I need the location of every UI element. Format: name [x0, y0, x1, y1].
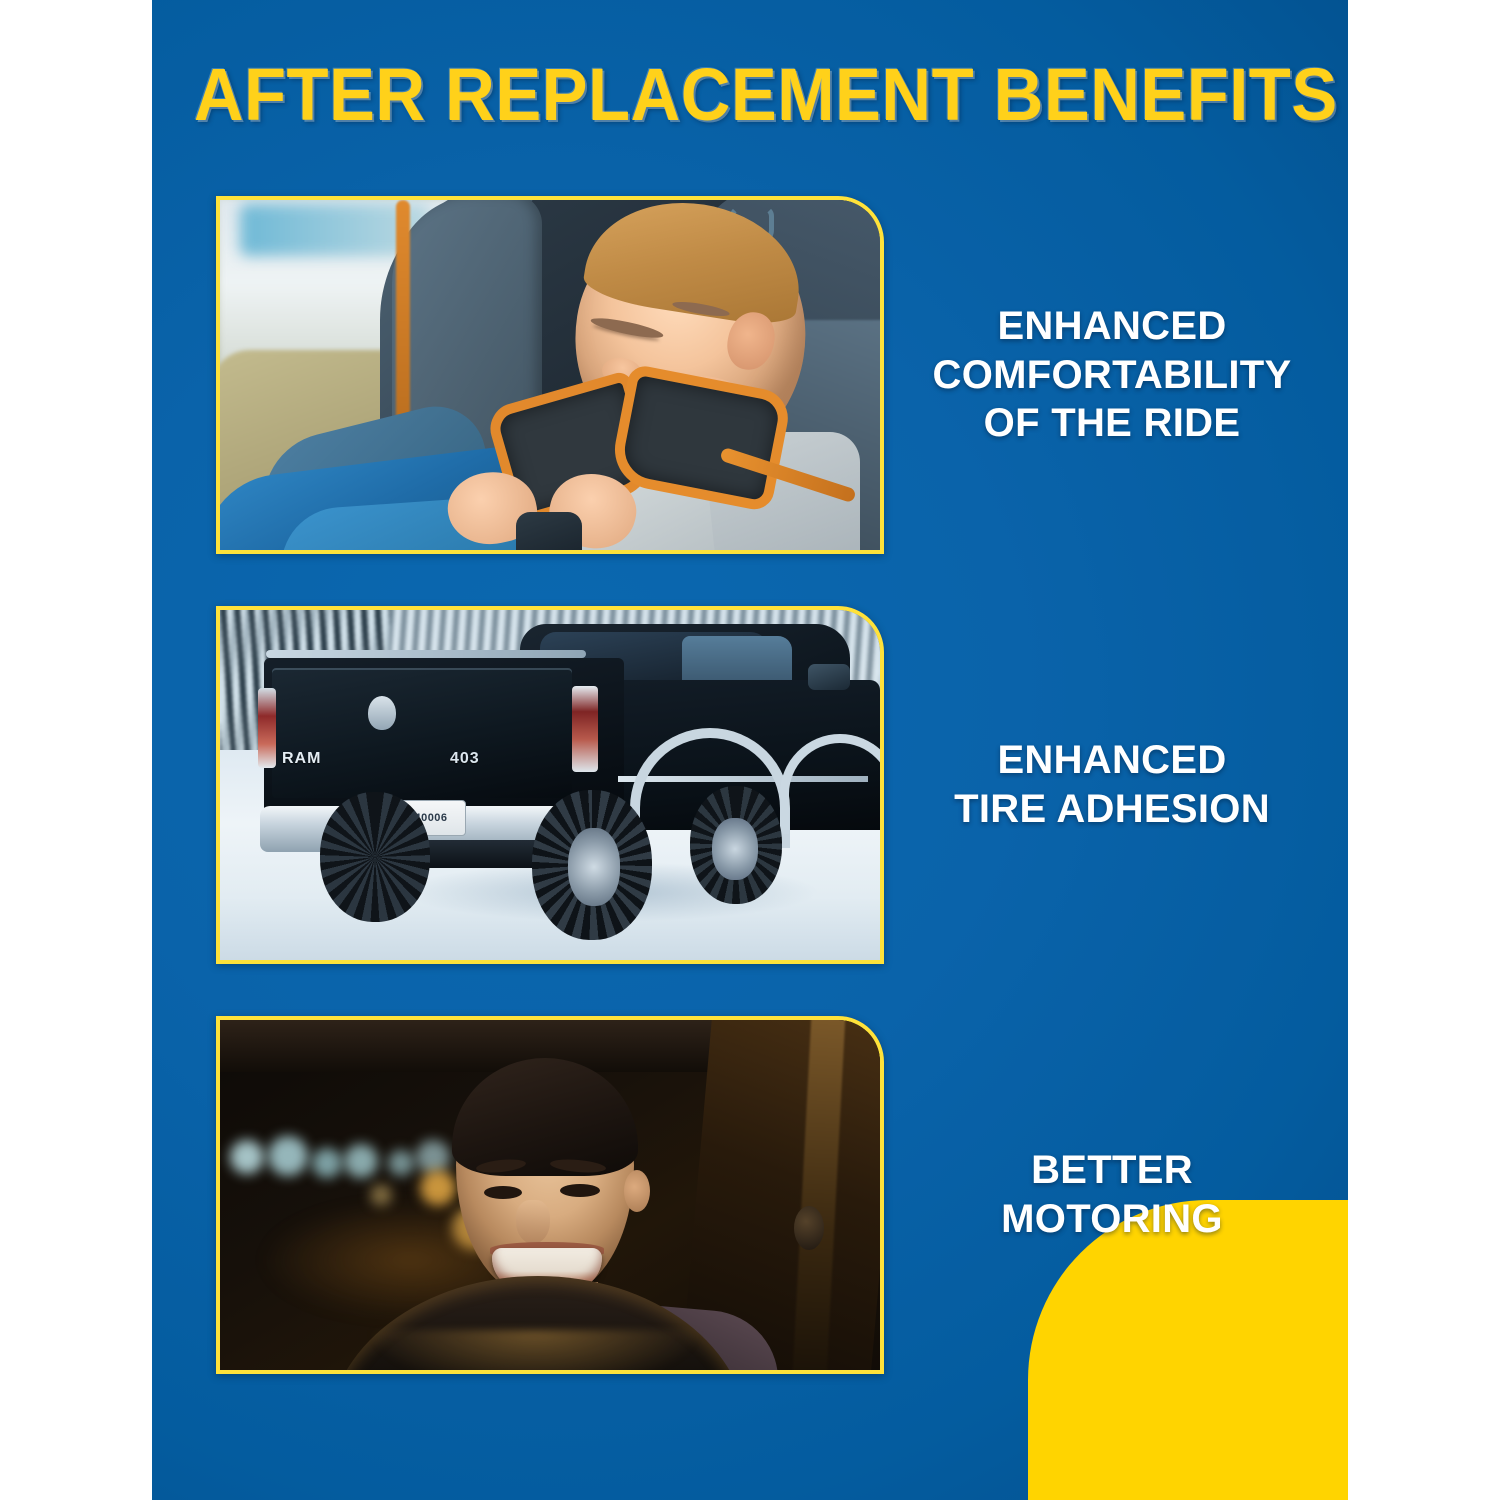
caption-line: MOTORING [918, 1195, 1306, 1244]
bokeh-light [312, 1148, 342, 1178]
pillar-handle [794, 1206, 824, 1250]
driver-hair [452, 1058, 638, 1176]
driver-nose [516, 1200, 550, 1244]
bokeh-light [268, 1136, 308, 1176]
truck-tailgate [272, 668, 572, 798]
benefit-photo-frame-better-motoring [216, 1016, 884, 1374]
harness-buckle [516, 512, 582, 550]
blue-panel: AFTER REPLACEMENT BENEFITS [152, 0, 1348, 1500]
caption-line: OF THE RIDE [918, 399, 1306, 448]
taillight-left [258, 688, 276, 768]
taillight-right [572, 686, 598, 772]
bokeh-light [230, 1140, 264, 1174]
driver-eye-left [484, 1186, 522, 1199]
driver-eye-right [560, 1184, 600, 1197]
tailgate-brand-text: RAM [282, 750, 321, 768]
benefit-row-comfortability: ENHANCED COMFORTABILITY OF THE RIDE [216, 196, 1316, 554]
caption-line: COMFORTABILITY [918, 351, 1306, 400]
photo-man-driving-at-night [220, 1020, 880, 1370]
caption-line: ENHANCED [918, 302, 1306, 351]
tire-rear-left [320, 792, 430, 922]
wheel-rim-rear [568, 828, 620, 906]
bokeh-light [416, 1140, 450, 1174]
infographic-page: AFTER REPLACEMENT BENEFITS [0, 0, 1500, 1500]
steering-wheel-highlight [370, 1330, 700, 1370]
ram-head-badge-icon [368, 696, 396, 730]
page-title: AFTER REPLACEMENT BENEFITS [194, 58, 1306, 132]
benefit-row-tire-adhesion: RAM 403 40006 [216, 606, 1316, 964]
wheel-rim-front [712, 818, 758, 880]
benefit-photo-frame-comfortability [216, 196, 884, 554]
bokeh-light [344, 1144, 378, 1178]
tailgate-chrome-top [266, 650, 586, 658]
benefit-row-better-motoring: BETTER MOTORING [216, 1016, 1316, 1374]
side-mirror [808, 664, 850, 690]
benefit-photo-frame-tire-adhesion: RAM 403 40006 [216, 606, 884, 964]
caption-line: ENHANCED [918, 736, 1306, 785]
driver-ear [624, 1170, 650, 1212]
photo-truck-in-snow: RAM 403 40006 [220, 610, 880, 960]
caption-line: BETTER [918, 1146, 1306, 1195]
caption-line: TIRE ADHESION [918, 785, 1306, 834]
tailgate-model-number: 403 [450, 750, 480, 768]
benefit-caption-better-motoring: BETTER MOTORING [884, 1146, 1316, 1244]
bokeh-light [388, 1150, 414, 1176]
benefit-caption-comfortability: ENHANCED COMFORTABILITY OF THE RIDE [884, 302, 1316, 448]
car-headliner [220, 1020, 740, 1072]
photo-baby-car-seat [220, 200, 880, 550]
benefit-caption-tire-adhesion: ENHANCED TIRE ADHESION [884, 736, 1316, 834]
